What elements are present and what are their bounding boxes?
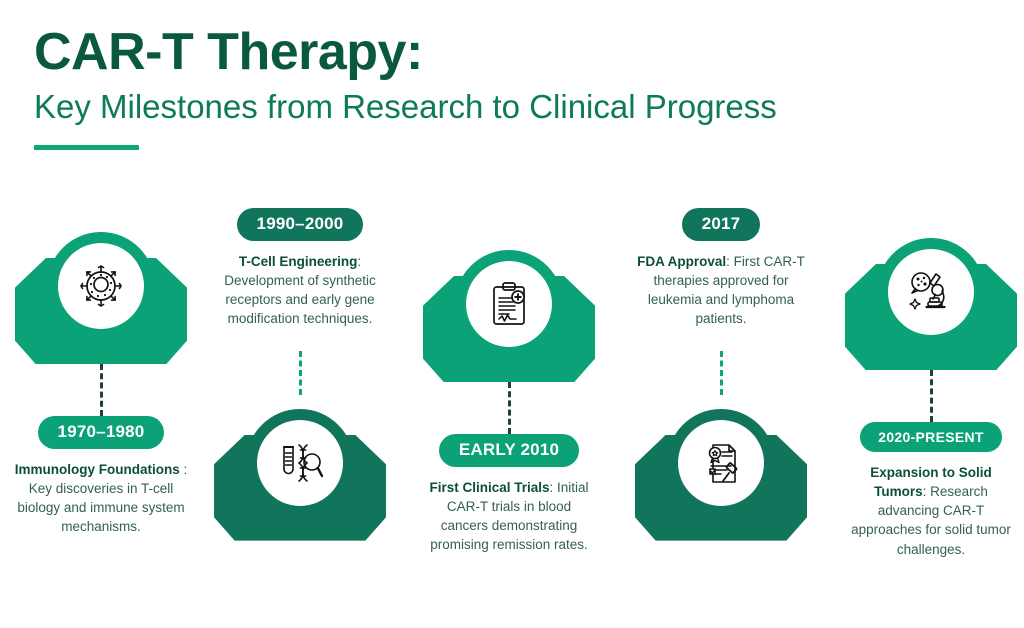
milestone-heading: First Clinical Trials: [429, 480, 549, 495]
milestone-badge: [635, 409, 807, 541]
milestone-2[interactable]: 1990–2000 T-Cell Engineering: Developmen…: [205, 208, 395, 541]
separator: :: [357, 254, 361, 269]
milestone-badge: [845, 238, 1017, 370]
t-cell-receptor-icon: [66, 251, 136, 321]
milestone-heading: Immunology Foundations: [15, 462, 180, 477]
milestone-body: Key discoveries in T-cell biology and im…: [17, 481, 184, 534]
milestone-badge: [214, 409, 386, 541]
header: CAR-T Therapy: Key Milestones from Resea…: [34, 24, 777, 150]
separator: :: [180, 462, 188, 477]
medical-clipboard-icon: [474, 269, 544, 339]
connector-line: [100, 364, 103, 416]
connector-line: [508, 382, 511, 434]
infographic-canvas: CAR-T Therapy: Key Milestones from Resea…: [0, 0, 1024, 628]
separator: :: [923, 484, 931, 499]
milestone-description: Immunology Foundations : Key discoveries…: [14, 460, 189, 537]
connector-line: [299, 351, 302, 395]
milestone-4[interactable]: 2017 FDA Approval: First CAR-T therapies…: [626, 208, 816, 541]
microscope-cell-icon: [896, 257, 966, 327]
separator: :: [726, 254, 734, 269]
connector-line: [720, 351, 723, 395]
period-pill: 1990–2000: [237, 208, 364, 241]
milestone-badge: [15, 232, 187, 364]
accent-underline: [34, 145, 139, 150]
milestone-heading: T-Cell Engineering: [239, 254, 358, 269]
milestone-1[interactable]: 1970–1980 Immunology Foundations : Key d…: [6, 232, 196, 537]
milestone-description: Expansion to Solid Tumors: Research adva…: [844, 463, 1019, 559]
period-pill: 2020-PRESENT: [860, 422, 1002, 452]
period-pill: 1970–1980: [38, 416, 165, 449]
dna-test-tube-magnifier-icon: [265, 428, 335, 498]
separator: :: [550, 480, 558, 495]
page-subtitle: Key Milestones from Research to Clinical…: [34, 86, 777, 127]
milestone-description: FDA Approval: First CAR-T therapies appr…: [634, 252, 809, 329]
milestone-badge: [423, 250, 595, 382]
milestone-description: First Clinical Trials: Initial CAR-T tri…: [422, 478, 597, 555]
milestone-body: Development of synthetic receptors and e…: [224, 273, 376, 326]
milestone-description: T-Cell Engineering: Development of synth…: [213, 252, 388, 329]
period-pill: EARLY 2010: [439, 434, 579, 467]
page-title: CAR-T Therapy:: [34, 24, 777, 80]
certificate-gavel-icon: [686, 428, 756, 498]
milestone-5[interactable]: 2020-PRESENT Expansion to Solid Tumors: …: [836, 238, 1024, 559]
milestone-3[interactable]: EARLY 2010 First Clinical Trials: Initia…: [414, 250, 604, 555]
period-pill: 2017: [682, 208, 761, 241]
milestone-heading: FDA Approval: [637, 254, 726, 269]
connector-line: [930, 370, 933, 422]
